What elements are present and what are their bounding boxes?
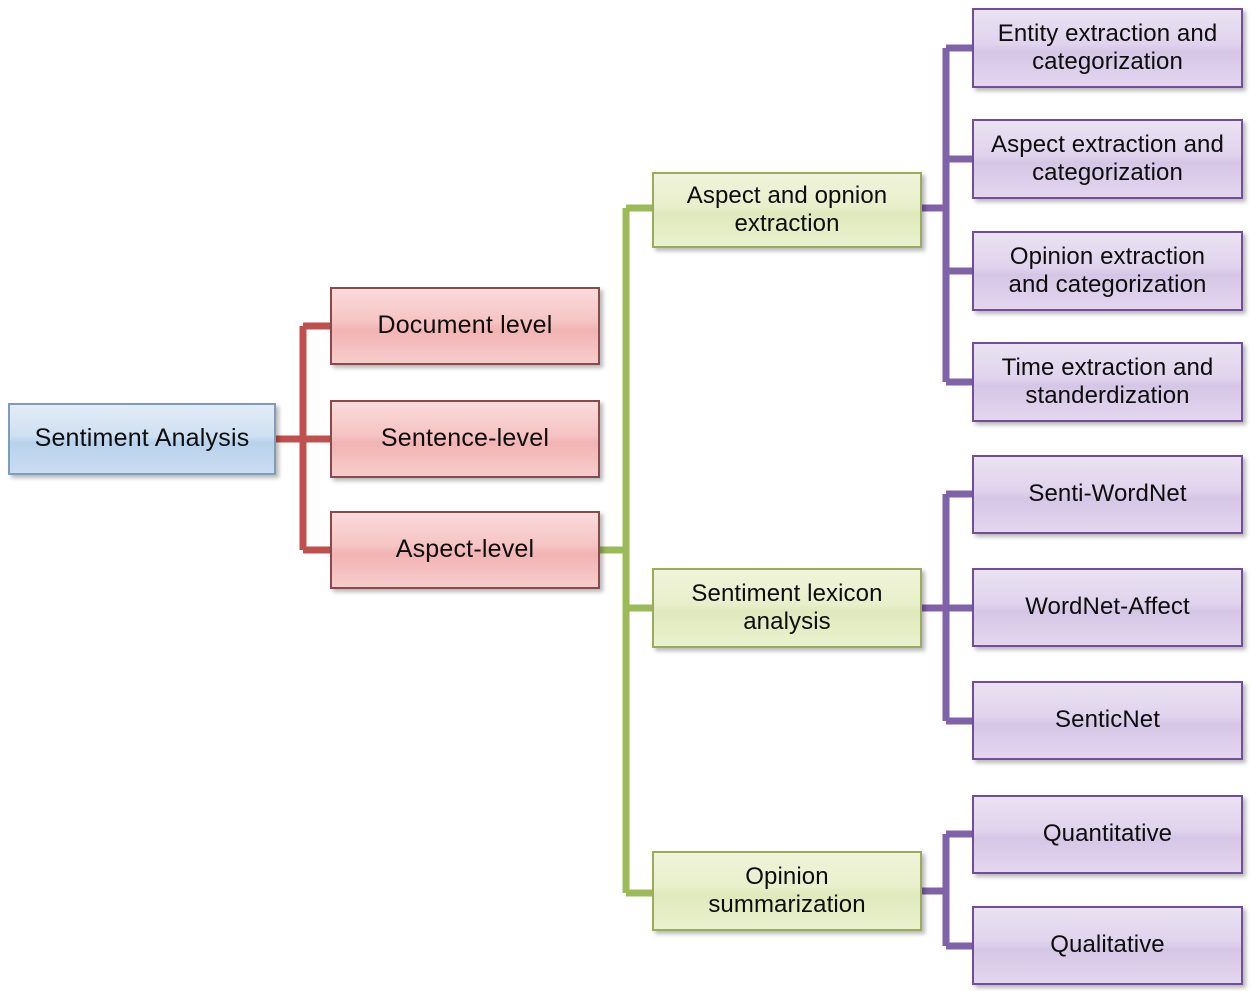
taxonomy-diagram: Sentiment Analysis Document level Senten…	[0, 0, 1250, 991]
node-aspect-and-opnion-extraction[interactable]: Aspect and opnion extraction	[652, 172, 922, 248]
node-senti-wordnet[interactable]: Senti-WordNet	[972, 455, 1243, 534]
node-label: Document level	[340, 311, 590, 341]
node-label: SenticNet	[982, 706, 1233, 734]
node-label: Time extraction and standerdization	[982, 354, 1233, 411]
node-label: Qualitative	[982, 931, 1233, 959]
node-label: Sentence-level	[340, 424, 590, 454]
node-label: Quantitative	[982, 820, 1233, 848]
node-label: Senti-WordNet	[982, 480, 1233, 508]
connector-group-level2	[600, 208, 652, 893]
node-aspect-extraction-and-categorization[interactable]: Aspect extraction and categorization	[972, 119, 1243, 199]
node-label: WordNet-Affect	[982, 593, 1233, 621]
connector-group-level3-lexicon	[921, 494, 972, 721]
node-time-extraction-and-standerdization[interactable]: Time extraction and standerdization	[972, 342, 1243, 422]
node-quantitative[interactable]: Quantitative	[972, 795, 1243, 874]
node-sentiment-lexicon-analysis[interactable]: Sentiment lexicon analysis	[652, 568, 922, 648]
node-wordnet-affect[interactable]: WordNet-Affect	[972, 568, 1243, 647]
node-label: Opinion summarization	[662, 863, 912, 920]
node-entity-extraction-and-categorization[interactable]: Entity extraction and categorization	[972, 8, 1243, 88]
node-opinion-extraction-and-categorization[interactable]: Opinion extraction and categorization	[972, 231, 1243, 311]
node-label: Entity extraction and categorization	[982, 20, 1233, 77]
node-label: Aspect-level	[340, 535, 590, 565]
node-label: Opinion extraction and categorization	[982, 243, 1233, 300]
node-document-level[interactable]: Document level	[330, 287, 600, 365]
node-qualitative[interactable]: Qualitative	[972, 906, 1243, 985]
connector-group-level3-summarization	[921, 834, 972, 946]
connector-group-level3-aspect-extraction	[921, 48, 972, 382]
connector-group-level1	[275, 326, 330, 550]
node-sentiment-analysis[interactable]: Sentiment Analysis	[8, 403, 276, 475]
node-label: Aspect extraction and categorization	[982, 131, 1233, 188]
node-opinion-summarization[interactable]: Opinion summarization	[652, 851, 922, 931]
node-aspect-level[interactable]: Aspect-level	[330, 511, 600, 589]
node-label: Aspect and opnion extraction	[662, 182, 912, 239]
node-senticnet[interactable]: SenticNet	[972, 681, 1243, 760]
node-label: Sentiment lexicon analysis	[662, 580, 912, 637]
node-sentence-level[interactable]: Sentence-level	[330, 400, 600, 478]
node-label: Sentiment Analysis	[18, 424, 266, 454]
